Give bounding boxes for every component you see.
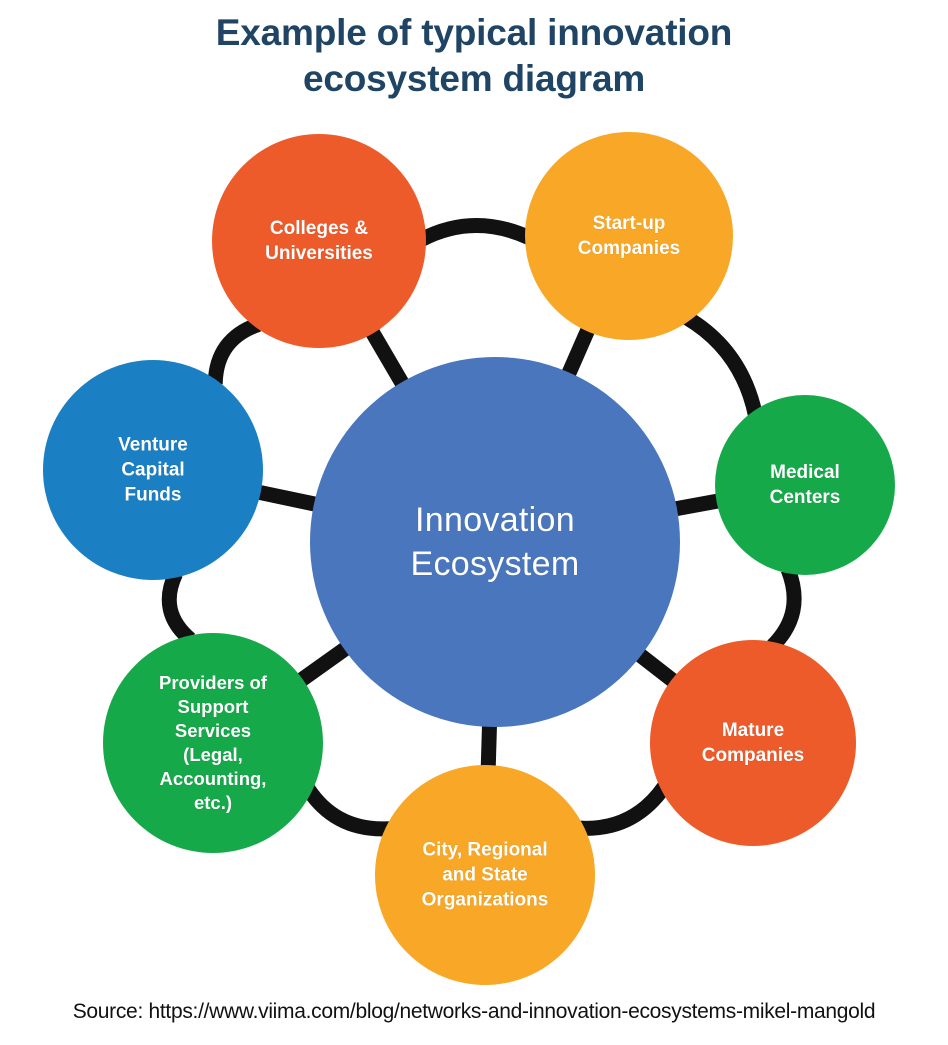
page-title: Example of typical innovation ecosystem … [0, 10, 948, 102]
ring-connector-venture-capital-funds-to-colleges-universities [215, 324, 258, 384]
hub-connector-to-city-regional-state-organizations [488, 721, 490, 771]
node-circle-venture-capital-funds[interactable] [43, 360, 263, 580]
node-circle-colleges-universities[interactable] [212, 134, 426, 348]
hub-connector-to-mature-companies [636, 652, 676, 683]
ring-connector-colleges-universities-to-start-up-companies [422, 225, 529, 239]
node-circle-city-regional-state-organizations[interactable] [375, 765, 595, 985]
node-circle-providers-of-support-services[interactable] [103, 633, 323, 853]
ring-connector-city-regional-state-organizations-to-providers-of-support-services [308, 789, 389, 829]
ring-connector-medical-centers-to-mature-companies [773, 569, 795, 646]
node-circle-mature-companies[interactable] [650, 640, 856, 846]
node-circles [43, 132, 895, 985]
hub-connector-to-providers-of-support-services [298, 646, 350, 683]
ring-connector-mature-companies-to-city-regional-state-organizations [580, 787, 664, 829]
hub-connector-to-venture-capital-funds [255, 491, 320, 505]
hub-connector-to-colleges-universities [370, 328, 405, 387]
hub-connector-to-start-up-companies [567, 326, 590, 378]
ring-connector-start-up-companies-to-medical-centers [687, 318, 756, 415]
node-circle-innovation-ecosystem[interactable] [310, 357, 680, 727]
page-title-line-1: Example of typical innovation [0, 10, 948, 56]
hub-connector-to-medical-centers [671, 500, 722, 509]
ring-connector-providers-of-support-services-to-venture-capital-funds [169, 574, 190, 640]
page-title-line-2: ecosystem diagram [0, 56, 948, 102]
node-circle-start-up-companies[interactable] [525, 132, 733, 340]
innovation-ecosystem-diagram: Innovation EcosystemColleges & Universit… [0, 105, 948, 985]
diagram-page: Example of typical innovation ecosystem … [0, 0, 948, 1045]
node-circle-medical-centers[interactable] [715, 395, 895, 575]
source-caption: Source: https://www.viima.com/blog/netwo… [0, 1000, 948, 1024]
diagram-canvas [0, 105, 948, 985]
